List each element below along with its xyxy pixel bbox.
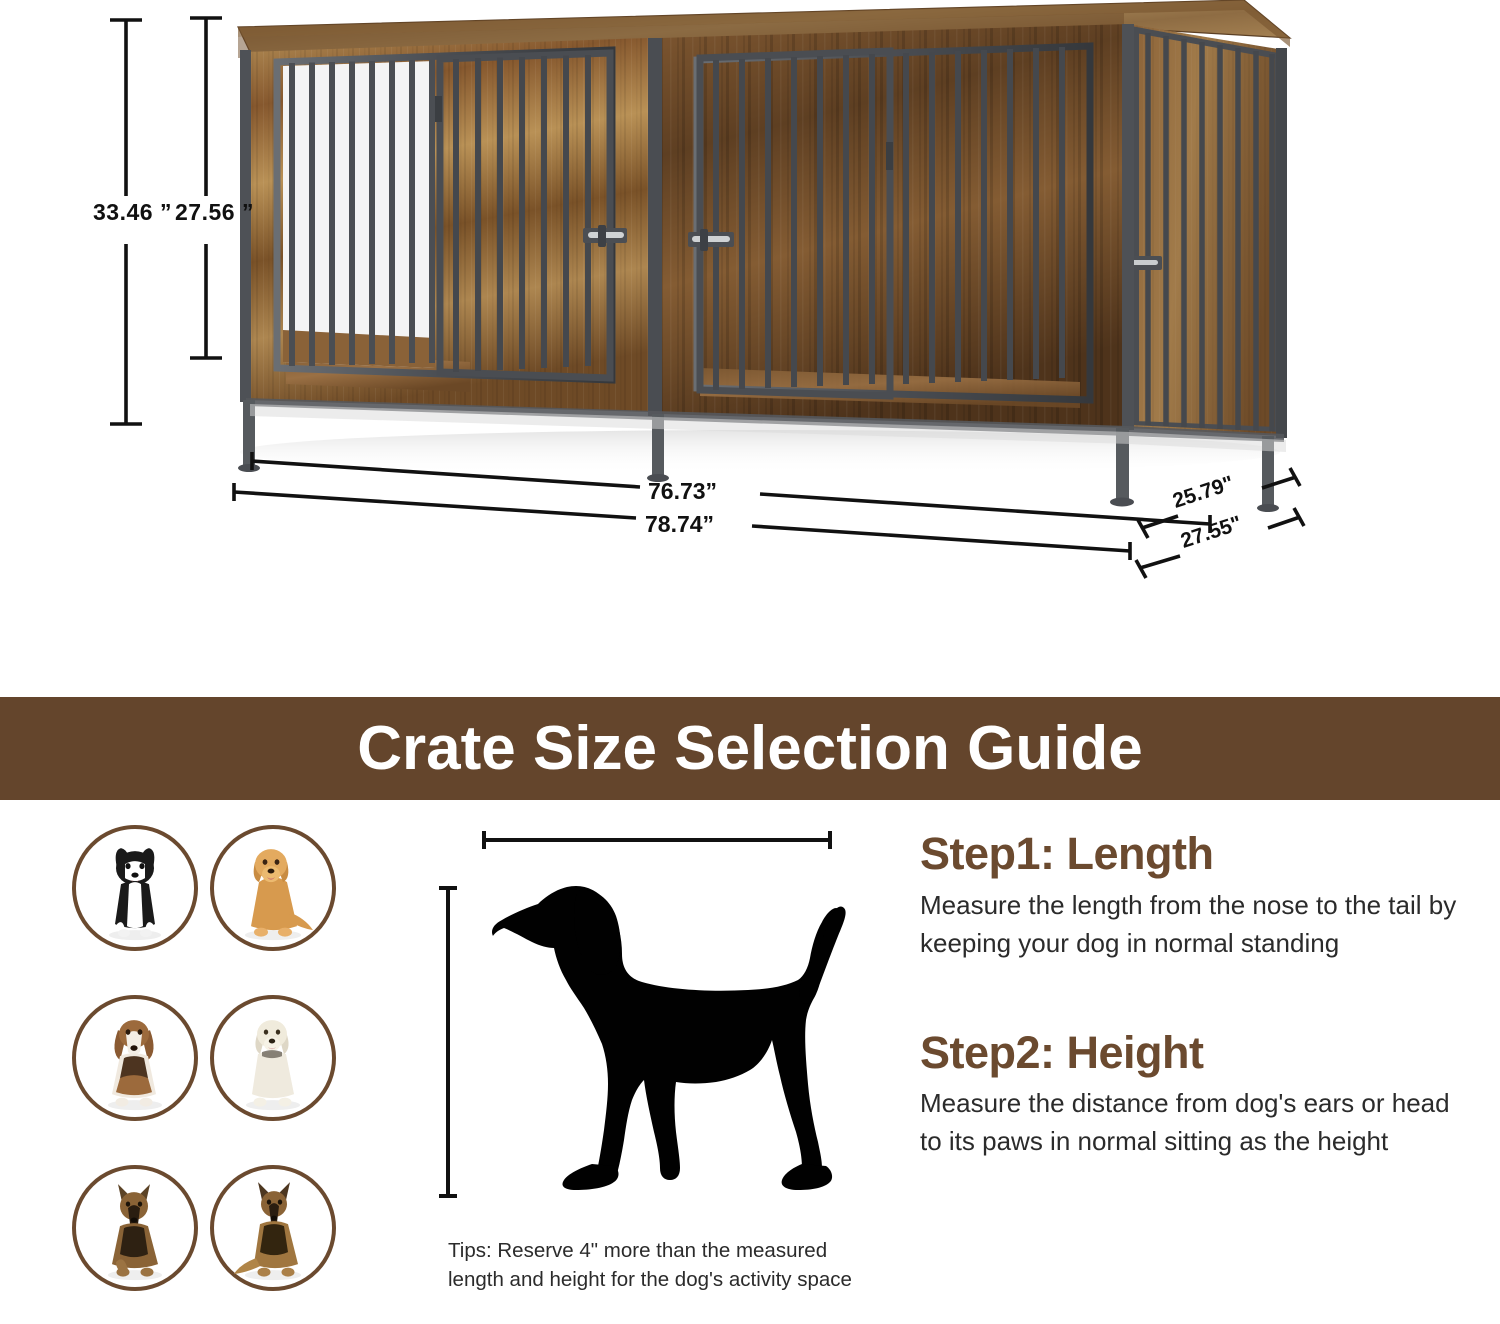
breed-circle-golden-retriever (210, 825, 336, 951)
dimension-height-inner: 27.56 ” (175, 199, 254, 226)
step-2-body: Measure the distance from dog's ears or … (920, 1085, 1465, 1161)
step-1-block: Step1: Length Measure the length from th… (920, 830, 1465, 963)
step-2-title: Step2: Height (920, 1029, 1465, 1078)
beagle-image (90, 1008, 180, 1112)
white-labrador-image (228, 1008, 318, 1112)
border-collie-image (91, 838, 179, 942)
dog-crate-illustration (0, 0, 1500, 686)
product-image-section: 33.46 ” 27.56 ” 76.73” 78.74” 25.79" 27.… (0, 0, 1500, 686)
dimension-height-outer: 33.46 ” (93, 199, 172, 226)
breed-circle-beagle (72, 995, 198, 1121)
height-measure-bar (439, 888, 457, 1196)
dog-silhouette (492, 886, 839, 1183)
infographic-page: 33.46 ” 27.56 ” 76.73” 78.74” 25.79" 27.… (0, 0, 1500, 1324)
breed-circle-german-shepherd-long-coat (210, 1165, 336, 1291)
step-2-block: Step2: Height Measure the distance from … (920, 1029, 1465, 1162)
step-1-body: Measure the length from the nose to the … (920, 887, 1465, 963)
german-shepherd-image (90, 1178, 180, 1282)
right-door-hinge (886, 142, 893, 170)
left-door-hinge (435, 96, 442, 122)
breed-circle-border-collie (72, 825, 198, 951)
golden-retriever-image (227, 838, 319, 942)
post-front-left (240, 50, 251, 402)
breed-circle-german-shepherd (72, 1165, 198, 1291)
breed-circle-white-labrador (210, 995, 336, 1121)
banner-title: Crate Size Selection Guide (357, 718, 1143, 780)
post-back-right (1276, 48, 1287, 438)
step-1-title: Step1: Length (920, 830, 1465, 879)
german-shepherd-long-coat-image (226, 1178, 320, 1282)
guide-banner: Crate Size Selection Guide (0, 697, 1500, 800)
post-center (648, 38, 662, 416)
tips-text: Tips: Reserve 4" more than the measured … (448, 1236, 868, 1294)
dimension-length-inner: 76.73” (648, 478, 717, 505)
dog-measurement-diagram (430, 808, 880, 1248)
dimension-length-outer: 78.74” (645, 511, 714, 538)
length-measure-bar (484, 831, 830, 849)
breed-photo-grid (72, 825, 342, 1311)
steps-column: Step1: Length Measure the length from th… (920, 830, 1465, 1201)
post-front-right (1122, 24, 1134, 430)
